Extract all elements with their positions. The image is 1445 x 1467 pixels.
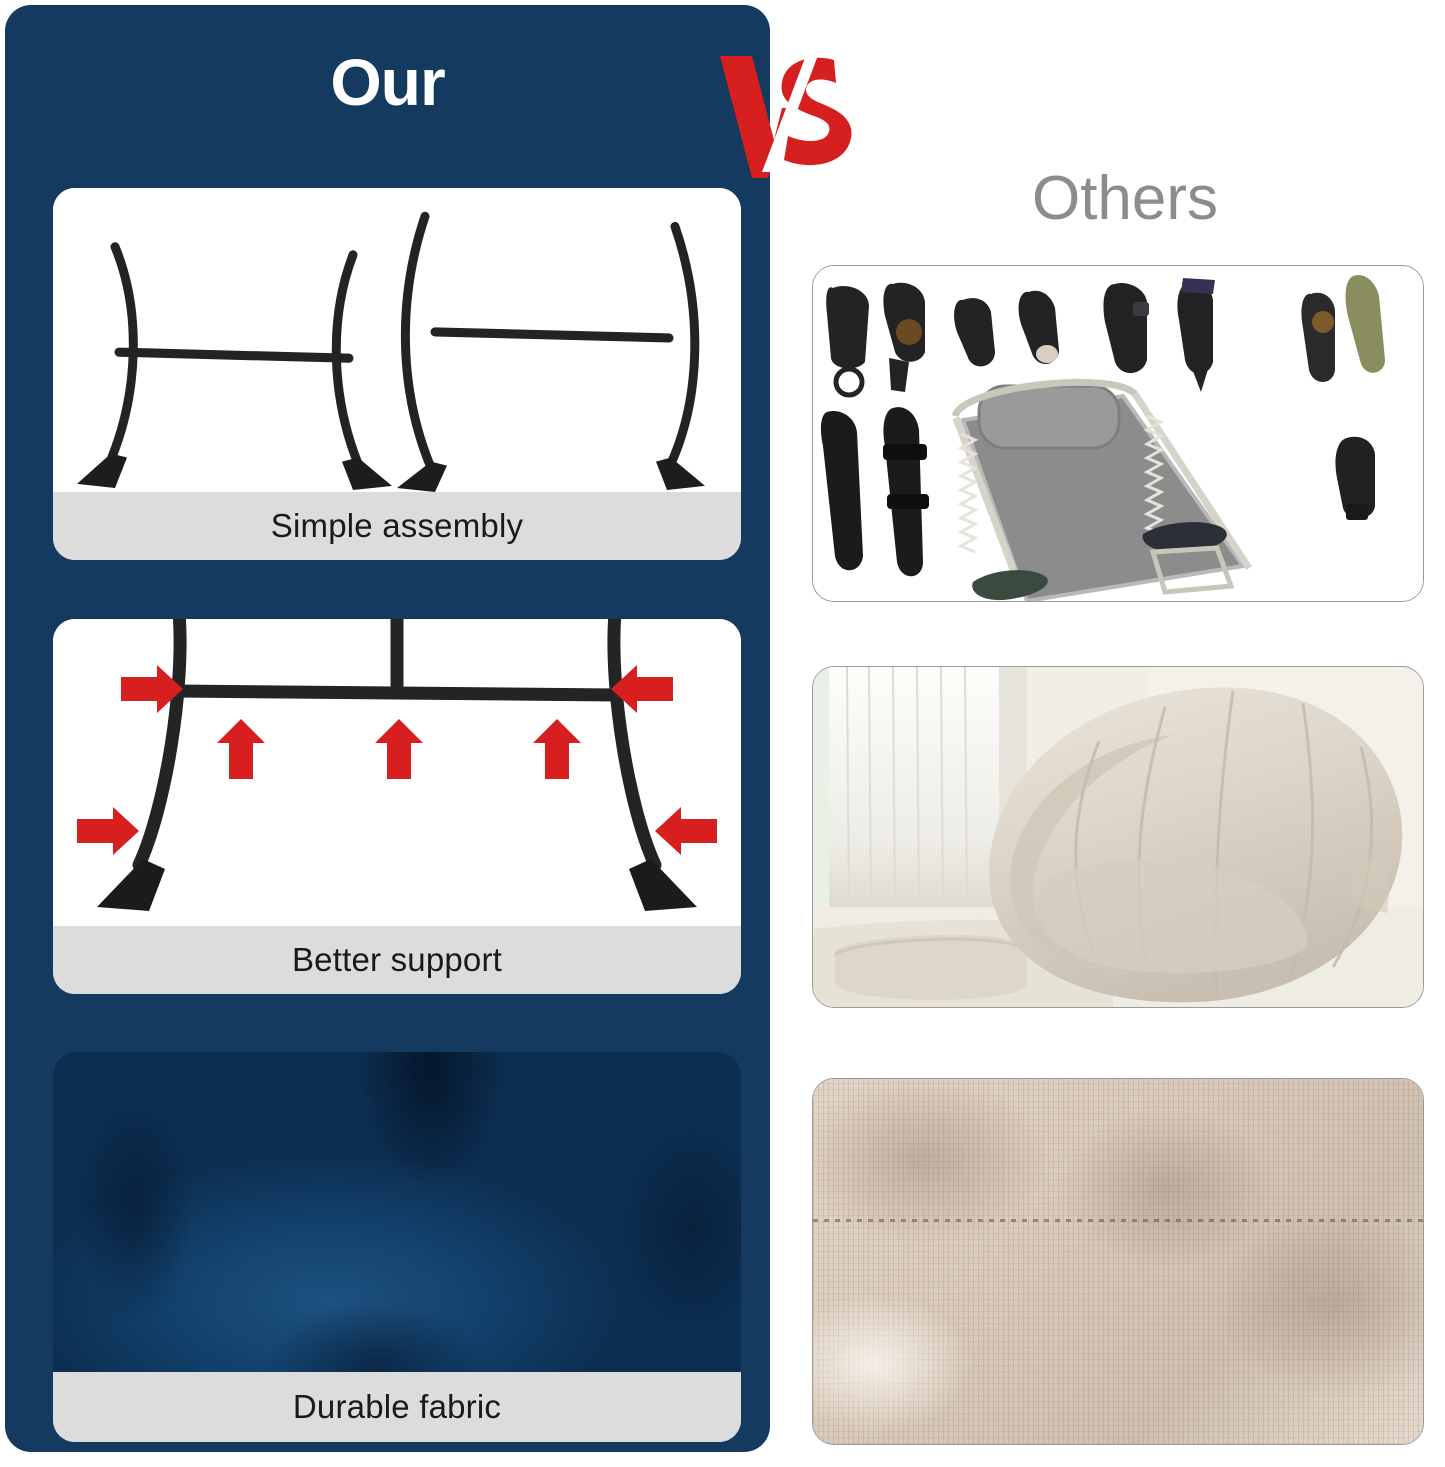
- feature-caption-simple-assembly: Simple assembly: [53, 492, 741, 560]
- our-feature-card-durable-fabric: Durable fabric: [53, 1052, 741, 1442]
- others-card-worn-fabric: [812, 1078, 1424, 1445]
- beige-bean-bag-chair-image: [813, 667, 1423, 1007]
- our-feature-card-better-support: Better support: [53, 619, 741, 994]
- versus-logo: [716, 48, 866, 183]
- our-comparison-panel: Our Simple assembly: [5, 5, 770, 1452]
- our-title: Our: [5, 49, 770, 115]
- worn-beige-fabric-image: [813, 1079, 1423, 1444]
- feature-caption-better-support: Better support: [53, 926, 741, 994]
- frame-support-arrows-image: [53, 619, 741, 926]
- chair-frame-halves-image: [53, 188, 741, 492]
- feature-caption-durable-fabric: Durable fabric: [53, 1372, 741, 1442]
- scattered-chair-parts-image: [813, 266, 1423, 601]
- our-feature-card-simple-assembly: Simple assembly: [53, 188, 741, 560]
- others-card-bean-bag: [812, 666, 1424, 1008]
- others-title: Others: [830, 168, 1420, 230]
- navy-cushion-fabric-image: [53, 1052, 741, 1372]
- others-card-scattered-parts: [812, 265, 1424, 602]
